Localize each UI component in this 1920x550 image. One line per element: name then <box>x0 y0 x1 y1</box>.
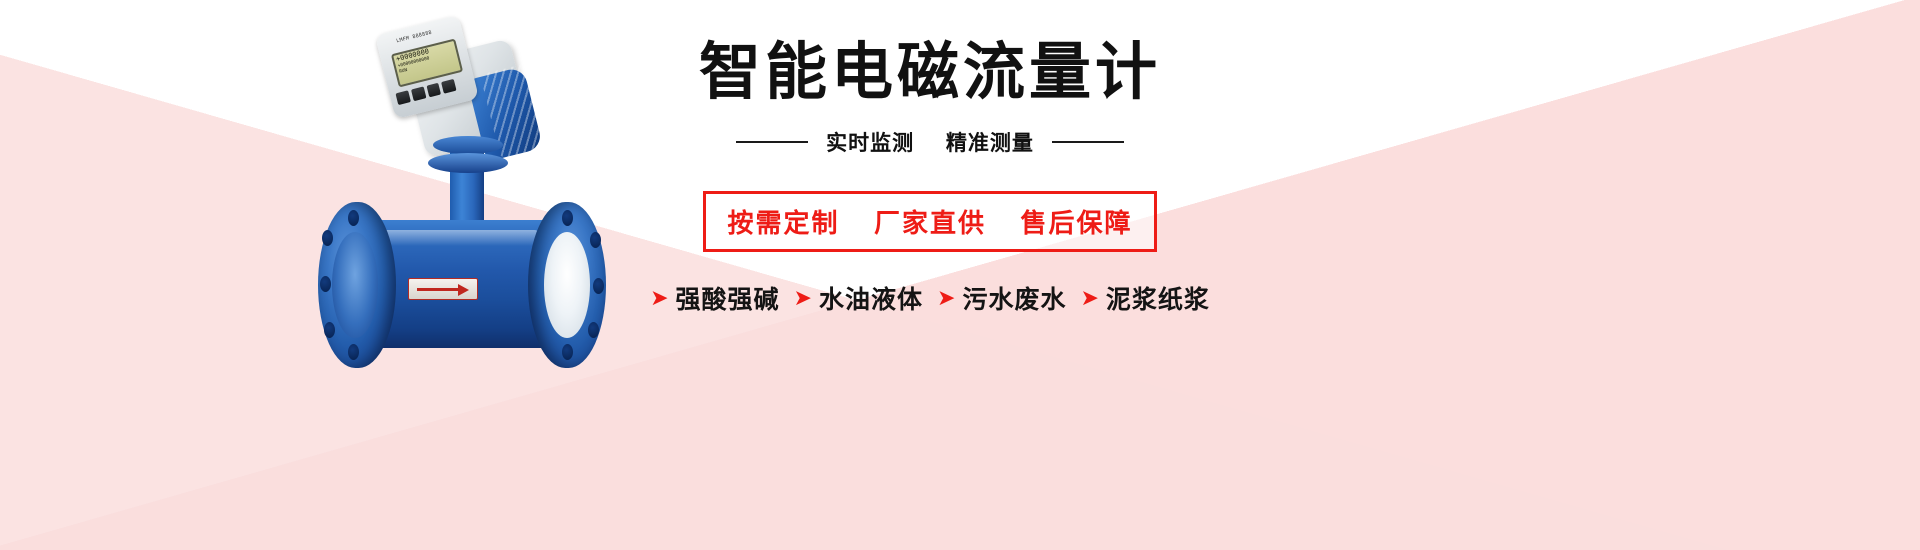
flange-bolt <box>348 344 359 360</box>
promise-badge: 按需定制 厂家直供 售后保障 <box>703 191 1158 252</box>
subtitle-item-2: 精准测量 <box>946 132 1034 155</box>
flange-bolt <box>348 210 359 226</box>
subtitle-text: 实时监测 精准测量 <box>826 127 1034 157</box>
flange-bolt <box>320 276 331 292</box>
flange-bolt <box>588 322 599 338</box>
flange-left <box>318 202 396 368</box>
flange-bolt <box>562 344 573 360</box>
flow-direction-arrow-icon <box>408 278 478 300</box>
feature-label: 水油液体 <box>819 280 923 316</box>
subtitle-item-1: 实时监测 <box>826 132 914 155</box>
arrow-right-icon: ➤ <box>1080 287 1098 309</box>
arrow-right-icon: ➤ <box>794 287 812 309</box>
feature-item: ➤ 强酸强碱 <box>650 280 779 316</box>
feature-label: 污水废水 <box>962 280 1066 316</box>
subtitle-row: 实时监测 精准测量 <box>620 127 1240 157</box>
feature-label: 强酸强碱 <box>676 280 780 316</box>
feature-list: ➤ 强酸强碱 ➤ 水油液体 ➤ 污水废水 ➤ 泥浆纸浆 <box>620 280 1240 316</box>
rule-left-icon <box>736 141 808 143</box>
product-banner: LMFM 888888 +0000000 +00000000000 RUN <box>0 0 1920 550</box>
promise-item-3: 售后保障 <box>1020 208 1132 238</box>
flange-bolt <box>562 210 573 226</box>
neck-flange-lower <box>428 153 508 173</box>
flange-right <box>528 202 606 368</box>
promise-item-1: 按需定制 <box>728 208 840 238</box>
arrow-right-icon: ➤ <box>650 287 668 309</box>
feature-label: 泥浆纸浆 <box>1106 280 1210 316</box>
flange-left-face <box>332 232 378 338</box>
flange-bolt <box>593 278 604 294</box>
feature-item: ➤ 泥浆纸浆 <box>1080 280 1209 316</box>
page-title: 智能电磁流量计 <box>620 40 1240 105</box>
feature-item: ➤ 水油液体 <box>794 280 923 316</box>
arrow-right-icon: ➤ <box>937 287 955 309</box>
flange-bolt <box>590 232 601 248</box>
flange-right-face <box>544 232 590 338</box>
flange-bolt <box>322 230 333 246</box>
feature-item: ➤ 污水废水 <box>937 280 1066 316</box>
product-image-flowmeter: LMFM 888888 +0000000 +00000000000 RUN <box>300 10 630 410</box>
rule-right-icon <box>1052 141 1124 143</box>
promise-item-2: 厂家直供 <box>874 208 986 238</box>
banner-content: 智能电磁流量计 实时监测 精准测量 按需定制 厂家直供 售后保障 ➤ 强酸强碱 <box>620 40 1240 316</box>
flange-bolt <box>324 322 335 338</box>
meter-body-highlight <box>378 230 542 246</box>
promise-badge-text: 按需定制 厂家直供 售后保障 <box>728 208 1133 238</box>
neck-flange-upper <box>433 136 503 154</box>
